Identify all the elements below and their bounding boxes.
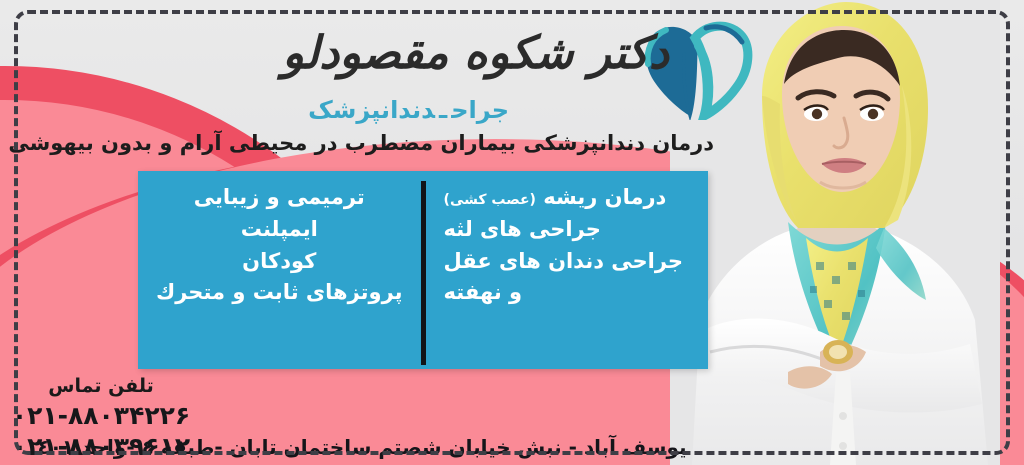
service-item: درمان ریشه (عصب کشی)	[444, 185, 690, 210]
tagline: درمان دندانپزشکی بیماران مضطرب در محیطی …	[8, 131, 714, 155]
page-title: دکتر شکوه مقصودلو	[282, 26, 669, 79]
service-item: جراحی دندان های عقل	[444, 249, 690, 274]
service-item: پروتزهای ثابت و متحرك	[156, 280, 403, 305]
column-divider	[421, 181, 426, 365]
role-subtitle: جراحـدندانپزشک	[308, 96, 509, 124]
contact-label: تلفن تماس	[6, 375, 196, 397]
service-item: جراحی های لثه	[444, 217, 690, 242]
service-item: و نهفته	[444, 280, 690, 305]
address-line: یوسف آباد - نبش خیابان شصتم ساختمان تابا…	[0, 435, 1024, 459]
services-column-left: درمان ریشه (عصب کشی) جراحی های لثه جراحی…	[426, 171, 708, 369]
service-label: درمان ریشه	[543, 185, 666, 209]
service-note: (عصب کشی)	[444, 192, 536, 208]
role-dentist: دندانپزشک	[308, 96, 435, 124]
role-separator: ـ	[435, 96, 451, 124]
services-panel: ترمیمی و زیبایی ایمپلنت کودکان پروتزهای …	[138, 171, 708, 369]
services-column-right: ترمیمی و زیبایی ایمپلنت کودکان پروتزهای …	[138, 171, 421, 369]
service-item: کودکان	[156, 249, 403, 274]
service-item: ایمپلنت	[156, 217, 403, 242]
phone-number[interactable]: ۰۲۱-۸۸۰۳۴۲۲۶	[6, 401, 196, 432]
clinic-banner: دکتر شکوه مقصودلو جراحـدندانپزشک درمان د…	[0, 0, 1024, 465]
service-item: ترمیمی و زیبایی	[156, 185, 403, 210]
role-surgeon: جراح	[451, 96, 509, 124]
